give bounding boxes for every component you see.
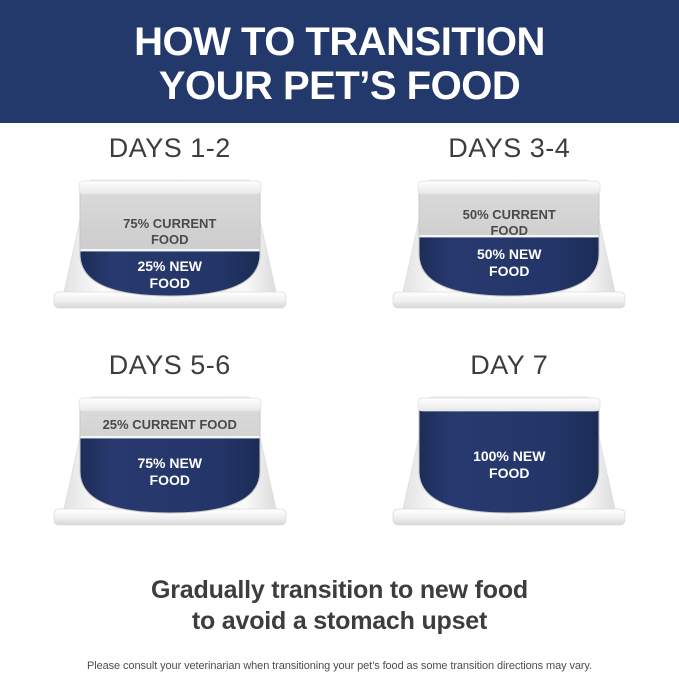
bowl-graphic [44,391,296,537]
tagline-line-1: Gradually transition to new food [0,575,679,606]
disclaimer-text: Please consult your veterinarian when tr… [0,659,679,673]
transition-step-days-5-6: DAYS 5-6 [0,350,340,567]
step-title: DAYS 1-2 [109,133,231,164]
header-banner: HOW TO TRANSITION YOUR PET’S FOOD [0,0,679,123]
step-title: DAYS 5-6 [109,350,231,381]
tagline-line-2: to avoid a stomach upset [0,606,679,637]
page-title-line-2: YOUR PET’S FOOD [159,64,520,108]
transition-step-days-1-2: DAYS 1-2 [0,133,340,350]
bowl-graphic [383,391,635,537]
bowl-illustration: 25% CURRENT FOOD 75% NEW FOOD [44,391,296,537]
bowl-illustration: 50% CURRENT FOOD 50% NEW FOOD [383,174,635,320]
page-title-line-1: HOW TO TRANSITION [134,20,545,64]
bowl-illustration: 100% NEW FOOD [383,391,635,537]
transition-steps-grid: DAYS 1-2 [0,123,679,567]
transition-step-day-7: DAY 7 [340,350,679,567]
footer: Gradually transition to new food to avoi… [0,567,679,673]
bowl-graphic [44,174,296,320]
bowl-graphic [383,174,635,320]
step-title: DAY 7 [470,350,548,381]
step-title: DAYS 3-4 [448,133,570,164]
transition-step-days-3-4: DAYS 3-4 [340,133,679,350]
bowl-illustration: 75% CURRENT FOOD 25% NEW FOOD [44,174,296,320]
